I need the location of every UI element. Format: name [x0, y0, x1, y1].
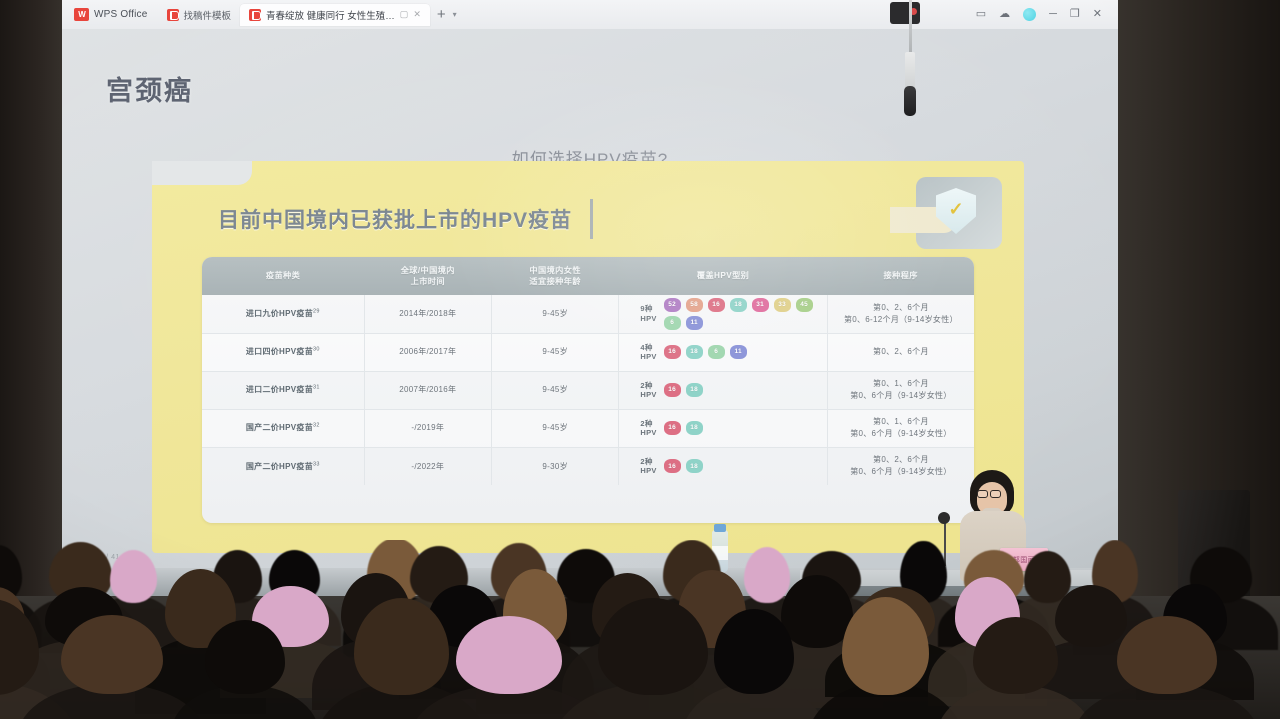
coverage-label: 2种HPV	[640, 381, 656, 400]
audience-head	[61, 615, 163, 694]
table-head: 疫苗种类 全球/中国境内上市时间 中国境内女性适宜接种年龄 覆盖HPV型别 接种…	[202, 257, 974, 295]
panel-icon[interactable]: ▭	[976, 9, 986, 20]
coverage-line: 9种	[640, 304, 656, 313]
hpv-type-badges: 1618	[664, 383, 703, 397]
hpv-type-badge: 18	[686, 345, 703, 359]
hpv-type-badge: 58	[686, 298, 703, 312]
comment-icon[interactable]: ▢	[400, 9, 409, 20]
cell-schedule: 第0、2、6个月第0、6-12个月（9-14岁女性）	[827, 295, 974, 333]
schedule-line: 第0、2、6个月	[831, 454, 971, 466]
table-row: 进口二价HPV疫苗312007年/2016年9-45岁2种HPV1618第0、1…	[202, 371, 974, 409]
schedule-line: 第0、1、6个月	[831, 378, 971, 390]
coverage-line: HPV	[640, 352, 656, 361]
cell-launch-date: 2007年/2016年	[364, 371, 491, 409]
coverage-wrap: 9种HPV52581618313345611	[622, 298, 823, 330]
hpv-type-badge: 18	[686, 421, 703, 435]
cell-vaccine-name: 国产二价HPV疫苗33	[202, 447, 364, 485]
col-header-schedule: 接种程序	[827, 257, 974, 295]
page-title: 宫颈癌	[106, 69, 193, 108]
audience-head	[744, 547, 790, 603]
cell-age-range: 9-30岁	[491, 447, 618, 485]
hpv-type-badge: 33	[774, 298, 791, 312]
cell-vaccine-name: 进口二价HPV疫苗31	[202, 371, 364, 409]
hpv-type-badges: 1618	[664, 421, 703, 435]
header-line: 全球/中国境内	[366, 265, 489, 276]
coverage-line: HPV	[640, 390, 656, 399]
schedule-line: 第0、2、6个月	[831, 302, 971, 314]
header-line: 覆盖HPV型别	[621, 270, 825, 281]
coverage-wrap: 2种HPV1618	[622, 381, 823, 400]
shield-icon: ✓	[936, 188, 976, 234]
cell-launch-date: -/2022年	[364, 447, 491, 485]
wps-app-name: WPS Office	[94, 9, 148, 20]
coverage-line: 2种	[640, 381, 656, 390]
cell-coverage: 2种HPV1618	[619, 371, 827, 409]
desk-microphone-icon	[938, 512, 950, 524]
col-header-coverage: 覆盖HPV型别	[619, 257, 827, 295]
reference-mark: 32	[313, 423, 320, 429]
audience-head	[110, 550, 157, 603]
cell-age-range: 9-45岁	[491, 371, 618, 409]
hpv-type-badge: 11	[686, 316, 703, 330]
coverage-line: 2种	[640, 419, 656, 428]
hpv-type-badge: 16	[664, 383, 681, 397]
schedule-line: 第0、6个月（9-14岁女性）	[831, 466, 971, 478]
check-glyph: ✓	[948, 199, 963, 220]
cell-age-range: 9-45岁	[491, 409, 618, 447]
wps-logo: W WPS Office	[66, 8, 158, 21]
header-line: 中国境内女性	[493, 265, 616, 276]
hpv-type-badge: 18	[686, 383, 703, 397]
cell-schedule: 第0、2、6个月	[827, 333, 974, 371]
header-line: 适宜接种年龄	[493, 276, 616, 287]
content-card: 目前中国境内已获批上市的HPV疫苗 ✓ 疫苗种类 全球/中国境内上市时间 中国境…	[152, 161, 1024, 553]
cell-launch-date: 2014年/2018年	[364, 295, 491, 333]
card-heading: 目前中国境内已获批上市的HPV疫苗	[200, 199, 593, 239]
cell-coverage: 4种HPV1618611	[619, 333, 827, 371]
hpv-type-badge: 18	[686, 459, 703, 473]
cell-launch-date: -/2019年	[364, 409, 491, 447]
cell-coverage: 2种HPV1618	[619, 409, 827, 447]
close-icon[interactable]: ✕	[413, 9, 421, 20]
header-line: 接种程序	[829, 270, 972, 281]
cell-launch-date: 2006年/2017年	[364, 333, 491, 371]
vaccine-table: 疫苗种类 全球/中国境内上市时间 中国境内女性适宜接种年龄 覆盖HPV型别 接种…	[202, 257, 974, 485]
coverage-label: 2种HPV	[640, 419, 656, 438]
col-header-type: 疫苗种类	[202, 257, 364, 295]
glasses-left-lens	[977, 490, 988, 498]
coverage-wrap: 2种HPV1618	[622, 419, 823, 438]
hanging-microphone	[904, 86, 916, 116]
cell-vaccine-name: 国产二价HPV疫苗32	[202, 409, 364, 447]
hpv-type-badge: 16	[664, 345, 681, 359]
hpv-type-badge: 16	[664, 421, 681, 435]
shield-emblem-box: ✓	[916, 177, 1002, 249]
auditorium-scene: W WPS Office 找稿件模板 青春绽放 健康同行 女性生殖… ▢ ✕ +…	[0, 0, 1280, 719]
table-row: 国产二价HPV疫苗33-/2022年9-30岁2种HPV1618第0、2、6个月…	[202, 447, 974, 485]
coverage-label: 2种HPV	[640, 457, 656, 476]
hpv-type-badges: 52581618313345611	[664, 298, 824, 330]
tab-template-search[interactable]: 找稿件模板	[158, 4, 241, 26]
bottle-cap	[714, 524, 726, 532]
hpv-type-badge: 6	[664, 316, 681, 330]
window-controls: ▭ ☁ ─ ❐ ✕	[976, 8, 1114, 21]
cell-vaccine-name: 进口九价HPV疫苗29	[202, 295, 364, 333]
audience-head	[1117, 616, 1217, 694]
avatar[interactable]	[1023, 8, 1036, 21]
cell-schedule: 第0、2、6个月第0、6个月（9-14岁女性）	[827, 447, 974, 485]
coverage-line: 4种	[640, 343, 656, 352]
cell-coverage: 9种HPV52581618313345611	[619, 295, 827, 333]
hpv-type-badges: 1618611	[664, 345, 747, 359]
table-header-row: 疫苗种类 全球/中国境内上市时间 中国境内女性适宜接种年龄 覆盖HPV型别 接种…	[202, 257, 974, 295]
coverage-line: HPV	[640, 466, 656, 475]
vaccine-table-panel: 疫苗种类 全球/中国境内上市时间 中国境内女性适宜接种年龄 覆盖HPV型别 接种…	[202, 257, 974, 523]
new-tab-button[interactable]: +	[430, 7, 453, 22]
coverage-line: HPV	[640, 314, 656, 323]
table-row: 进口九价HPV疫苗292014年/2018年9-45岁9种HPV52581618…	[202, 295, 974, 333]
coverage-line: HPV	[640, 428, 656, 437]
reference-mark: 33	[313, 461, 320, 467]
rig-arm	[905, 52, 915, 90]
hpv-type-badge: 16	[664, 459, 681, 473]
ceiling-camera	[890, 2, 920, 24]
cell-age-range: 9-45岁	[491, 295, 618, 333]
cell-schedule: 第0、1、6个月第0、6个月（9-14岁女性）	[827, 409, 974, 447]
hpv-type-badge: 11	[730, 345, 747, 359]
audience	[0, 540, 1280, 719]
coverage-wrap: 4种HPV1618611	[622, 343, 823, 362]
schedule-line: 第0、1、6个月	[831, 416, 971, 428]
close-icon[interactable]: ✕	[1093, 9, 1102, 20]
table-body: 进口九价HPV疫苗292014年/2018年9-45岁9种HPV52581618…	[202, 295, 974, 485]
maximize-icon[interactable]: ❐	[1070, 9, 1080, 20]
minimize-icon[interactable]: ─	[1049, 9, 1057, 20]
hpv-type-badge: 52	[664, 298, 681, 312]
reference-mark: 29	[313, 309, 320, 315]
schedule-line: 第0、6个月（9-14岁女性）	[831, 428, 971, 440]
chevron-down-icon[interactable]: ▾	[453, 10, 463, 19]
col-header-launch: 全球/中国境内上市时间	[364, 257, 491, 295]
cloud-icon[interactable]: ☁	[999, 9, 1010, 20]
col-header-age: 中国境内女性适宜接种年龄	[491, 257, 618, 295]
header-line: 上市时间	[366, 276, 489, 287]
reference-mark: 30	[313, 347, 320, 353]
cell-coverage: 2种HPV1618	[619, 447, 827, 485]
coverage-wrap: 2种HPV1618	[622, 457, 823, 476]
schedule-line: 第0、6个月（9-14岁女性）	[831, 390, 971, 402]
document-icon	[167, 9, 179, 21]
reference-mark: 31	[313, 385, 320, 391]
tab-label: 找稿件模板	[184, 8, 232, 22]
hpv-type-badge: 45	[796, 298, 813, 312]
schedule-line: 第0、6-12个月（9-14岁女性）	[831, 314, 971, 326]
cell-age-range: 9-45岁	[491, 333, 618, 371]
card-notch	[152, 161, 252, 185]
table-row: 国产二价HPV疫苗32-/2019年9-45岁2种HPV1618第0、1、6个月…	[202, 409, 974, 447]
table-row: 进口四价HPV疫苗302006年/2017年9-45岁4种HPV1618611第…	[202, 333, 974, 371]
wps-logo-icon: W	[74, 8, 89, 21]
glasses-right-lens	[990, 490, 1001, 498]
cell-vaccine-name: 进口四价HPV疫苗30	[202, 333, 364, 371]
tab-active-presentation[interactable]: 青春绽放 健康同行 女性生殖… ▢ ✕	[240, 4, 430, 26]
cell-schedule: 第0、1、6个月第0、6个月（9-14岁女性）	[827, 371, 974, 409]
hpv-type-badge: 31	[752, 298, 769, 312]
tab-label: 青春绽放 健康同行 女性生殖…	[266, 8, 395, 22]
coverage-label: 9种HPV	[640, 304, 656, 323]
hpv-type-badge: 18	[730, 298, 747, 312]
schedule-line: 第0、2、6个月	[831, 346, 971, 358]
hpv-type-badge: 16	[708, 298, 725, 312]
header-line: 疫苗种类	[204, 270, 362, 281]
wps-window-titlebar: W WPS Office 找稿件模板 青春绽放 健康同行 女性生殖… ▢ ✕ +…	[62, 0, 1118, 29]
hpv-type-badge: 6	[708, 345, 725, 359]
presentation-icon	[249, 9, 261, 21]
coverage-line: 2种	[640, 457, 656, 466]
coverage-label: 4种HPV	[640, 343, 656, 362]
hpv-type-badges: 1618	[664, 459, 703, 473]
